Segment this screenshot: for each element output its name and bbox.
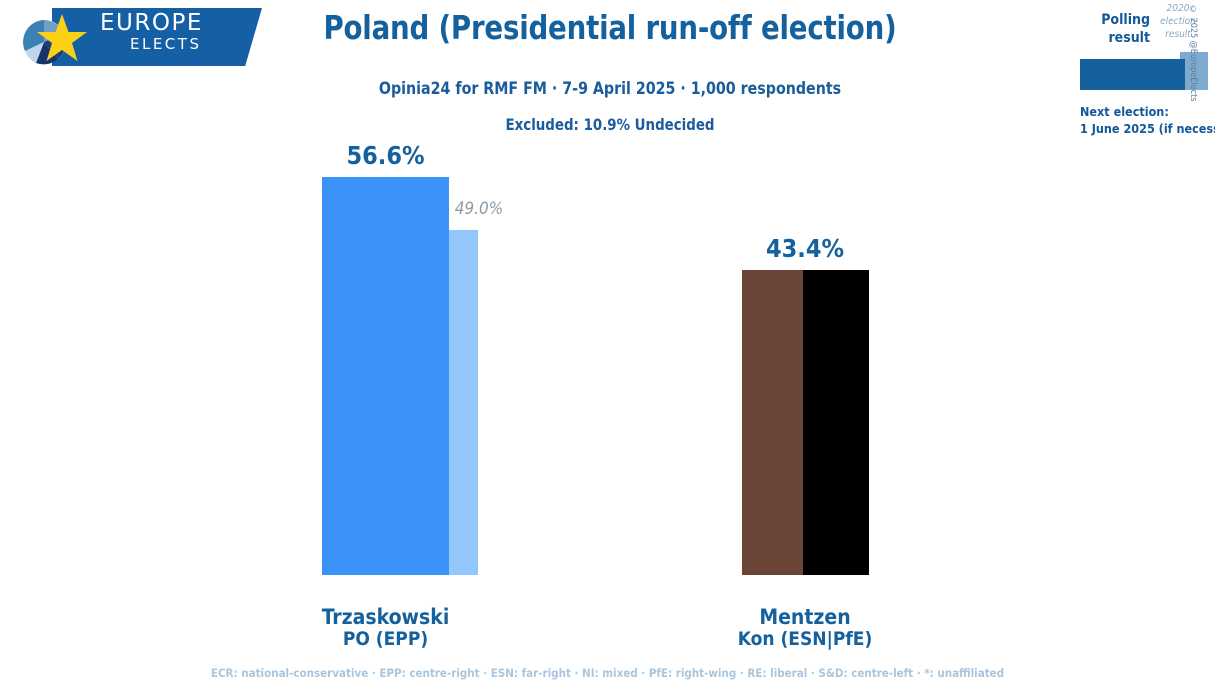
bar-polling-result-1 bbox=[742, 270, 869, 575]
bar-value-label-1: 43.4% bbox=[725, 234, 885, 263]
candidate-name-0: Trzaskowski bbox=[246, 605, 526, 629]
candidate-party-0: PO (EPP) bbox=[246, 629, 526, 651]
party-abbreviation-legend: ECR: national-conservative · EPP: centre… bbox=[0, 666, 1215, 680]
bar-previous-value-label-0: 49.0% bbox=[439, 199, 519, 219]
bar-previous-result-0 bbox=[449, 230, 478, 575]
candidate-party-1: Kon (ESN|PfE) bbox=[665, 629, 945, 651]
bar-caption-1: Mentzen Kon (ESN|PfE) bbox=[665, 605, 945, 651]
bar-caption-0: Trzaskowski PO (EPP) bbox=[246, 605, 526, 651]
bar-polling-result-0 bbox=[322, 177, 449, 575]
candidate-name-1: Mentzen bbox=[665, 605, 945, 629]
bar-chart-plot-area: 56.6% 49.0% Trzaskowski PO (EPP) 43.4% M… bbox=[0, 0, 1215, 700]
bar-value-label-0: 56.6% bbox=[306, 141, 466, 170]
